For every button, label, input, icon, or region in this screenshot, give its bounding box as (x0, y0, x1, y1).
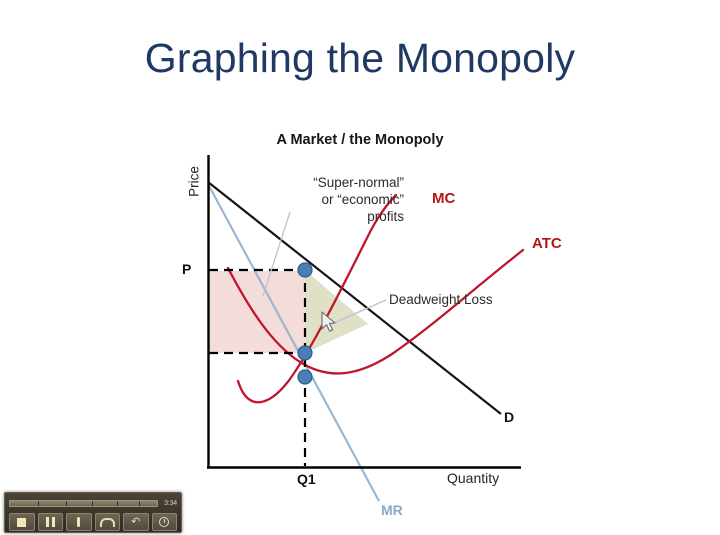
stop-icon (17, 518, 26, 527)
chart-title: A Market / the Monopoly (0, 131, 720, 149)
seek-tick (139, 501, 140, 506)
y-axis-label: Price (187, 146, 204, 216)
average-total-cost-curve-label: ATC (532, 235, 562, 254)
seek-tick (66, 501, 67, 506)
profits-annotation-line-3: profits (248, 209, 404, 226)
player-seek-row: 3:34 (9, 497, 177, 510)
slide-screen: Graphing the Monopoly (0, 0, 720, 535)
player-time-label: 3:34 (161, 500, 177, 507)
supernormal-profit-rectangle (209, 271, 305, 353)
seek-tick (117, 501, 118, 506)
monopoly-price-point (298, 263, 312, 277)
undo-button[interactable]: ↶ (123, 513, 149, 531)
demand-curve-label: D (504, 409, 514, 427)
y-tick-label-p: P (182, 261, 191, 279)
headphones-icon (100, 518, 115, 527)
headphones-button[interactable] (95, 513, 121, 531)
mr-equals-mc-point (298, 370, 312, 384)
pause-icon (46, 517, 55, 527)
chart-canvas (0, 0, 720, 535)
monopoly-graph: A Market / the Monopoly Price Quantity Q… (0, 0, 720, 535)
marginal-revenue-curve-label: MR (381, 502, 403, 520)
settings-button[interactable] (152, 513, 178, 531)
undo-icon: ↶ (131, 517, 140, 528)
record-button[interactable] (66, 513, 92, 531)
seek-tick (92, 501, 93, 506)
microphone-icon (77, 517, 80, 527)
x-axis-label: Quantity (447, 470, 499, 488)
seek-slider[interactable] (9, 500, 158, 507)
profits-annotation-line-2: or “economic” (248, 192, 404, 209)
x-tick-label-q1: Q1 (297, 471, 316, 489)
pause-button[interactable] (38, 513, 64, 531)
atc-at-q1-point (298, 346, 312, 360)
seek-tick (38, 501, 39, 506)
profits-annotation-line-1: “Super-normal” (248, 175, 404, 192)
stop-button[interactable] (9, 513, 35, 531)
marginal-cost-curve-label: MC (432, 190, 455, 209)
deadweight-loss-annotation: Deadweight Loss (389, 292, 493, 309)
power-icon (159, 517, 169, 527)
media-player-toolbar[interactable]: 3:34 ↶ (4, 492, 182, 533)
player-button-row: ↶ (9, 513, 177, 531)
supernormal-profits-annotation: “Super-normal” or “economic” profits (248, 175, 404, 226)
